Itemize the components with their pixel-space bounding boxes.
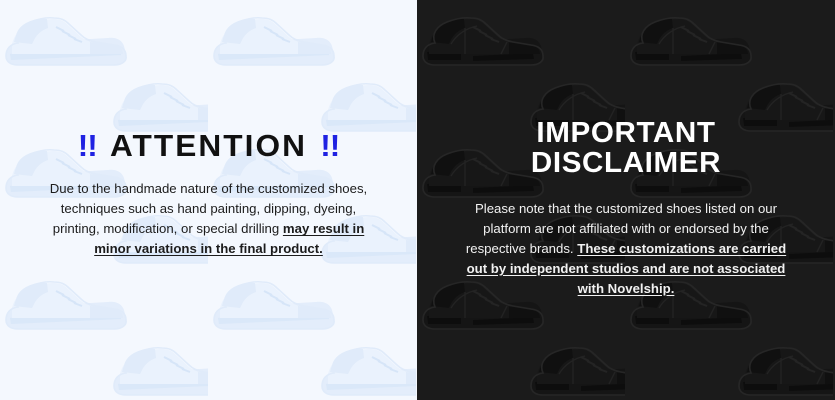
attention-title: ATTENTION [110, 130, 307, 162]
disclaimer-panel: IMPORTANT DISCLAIMER Please note that th… [417, 0, 835, 400]
attention-heading: !! ATTENTION !! [10, 130, 407, 162]
attention-content: !! ATTENTION !! Due to the handmade natu… [0, 130, 417, 259]
disclaimer-content: IMPORTANT DISCLAIMER Please note that th… [417, 118, 835, 299]
disclaimer-body: Please note that the customized shoes li… [461, 199, 791, 299]
customization-notice-banner: !! ATTENTION !! Due to the handmade natu… [0, 0, 835, 400]
exclamation-mark-right-icon: !! [320, 130, 339, 162]
exclamation-mark-left-icon: !! [78, 130, 97, 162]
disclaimer-heading: IMPORTANT DISCLAIMER [427, 118, 825, 179]
disclaimer-heading-line1: IMPORTANT [536, 117, 715, 149]
attention-body: Due to the handmade nature of the custom… [50, 179, 368, 259]
disclaimer-heading-line2: DISCLAIMER [427, 148, 825, 178]
attention-panel: !! ATTENTION !! Due to the handmade natu… [0, 0, 417, 400]
